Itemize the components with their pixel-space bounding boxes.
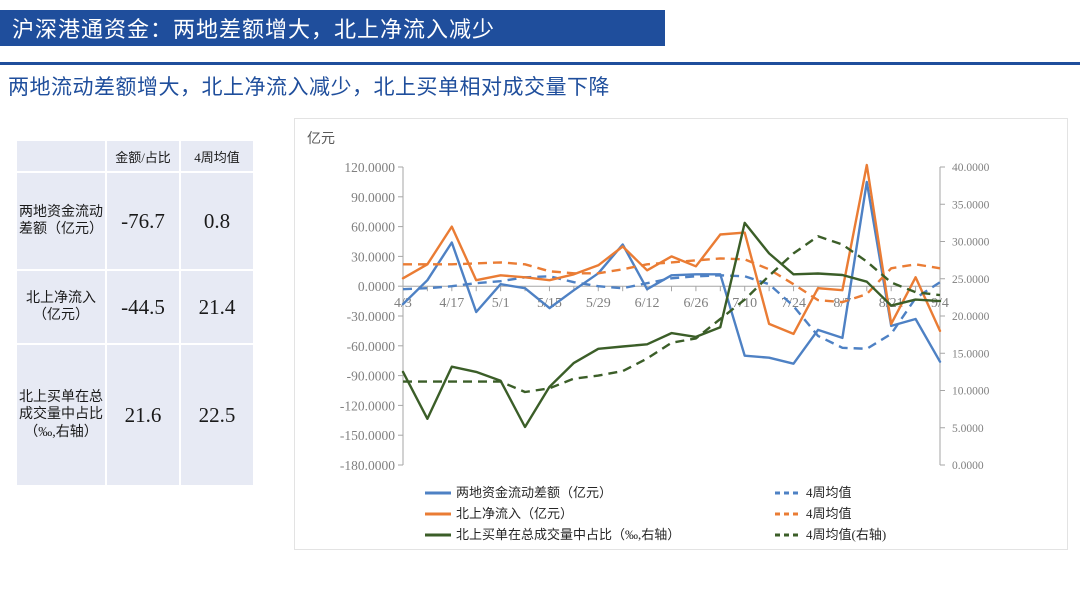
x-tick-label: 6/12 xyxy=(635,296,660,311)
title-divider xyxy=(0,62,1080,65)
y2-tick-label: 40.0000 xyxy=(952,162,990,174)
legend-label: 4周均值 xyxy=(806,485,852,500)
y2-tick-label: 20.0000 xyxy=(952,311,990,323)
series-group xyxy=(403,165,940,427)
y-tick-label: 30.0000 xyxy=(351,249,395,264)
y-axis-left-ticks: 120.000090.000060.000030.00000.0000-30.0… xyxy=(340,160,403,473)
row-avg-netin: 21.4 xyxy=(181,271,253,343)
chart-panel: 亿元 120.000090.000060.000030.00000.0000-3… xyxy=(294,118,1068,550)
y2-tick-label: 30.0000 xyxy=(952,237,990,249)
page-title: 沪深港通资金：两地差额增大，北上净流入减少 xyxy=(0,12,495,44)
table-header-row: 金额/占比 4周均值 xyxy=(17,141,253,171)
y-tick-label: 90.0000 xyxy=(351,190,395,205)
y-tick-label: 0.0000 xyxy=(358,279,395,294)
legend-label: 4周均值 xyxy=(806,506,852,521)
y2-tick-label: 0.0000 xyxy=(952,460,984,472)
row-amount-diff: -76.7 xyxy=(107,173,179,269)
series-line-5 xyxy=(403,236,940,392)
series-line-4 xyxy=(403,223,940,427)
y-tick-label: -180.0000 xyxy=(340,458,395,473)
y-tick-label: -60.0000 xyxy=(347,339,396,354)
table-row: 北上净流入（亿元） -44.5 21.4 xyxy=(17,271,253,343)
y-axis-unit-label: 亿元 xyxy=(307,130,335,146)
subtitle-text: 两地流动差额增大，北上净流入减少，北上买单相对成交量下降 xyxy=(8,71,610,101)
summary-table: 金额/占比 4周均值 两地资金流动差额（亿元） -76.7 0.8 北上净流入（… xyxy=(15,139,255,487)
x-tick-label: 5/1 xyxy=(492,296,510,311)
y2-tick-label: 15.0000 xyxy=(952,348,990,360)
table-header-amount: 金额/占比 xyxy=(107,141,179,171)
row-amount-netin: -44.5 xyxy=(107,271,179,343)
y2-tick-label: 25.0000 xyxy=(952,274,990,286)
x-tick-label: 5/29 xyxy=(586,296,611,311)
line-chart: 亿元 120.000090.000060.000030.00000.0000-3… xyxy=(295,119,1065,547)
row-avg-share: 22.5 xyxy=(181,345,253,485)
legend-label: 北上买单在总成交量中占比（‰,右轴） xyxy=(456,527,680,542)
row-amount-share: 21.6 xyxy=(107,345,179,485)
y2-tick-label: 10.0000 xyxy=(952,386,990,398)
row-label-share: 北上买单在总成交量中占比（‰,右轴） xyxy=(17,345,105,485)
row-avg-diff: 0.8 xyxy=(181,173,253,269)
y2-tick-label: 5.0000 xyxy=(952,423,984,435)
table-header-blank xyxy=(17,141,105,171)
slide-subtitle: 两地流动差额增大，北上净流入减少，北上买单相对成交量下降 xyxy=(8,70,1008,102)
series-line-0 xyxy=(403,182,940,364)
y2-tick-label: 35.0000 xyxy=(952,199,990,211)
y-tick-label: -120.0000 xyxy=(340,398,395,413)
row-label-netin: 北上净流入（亿元） xyxy=(17,271,105,343)
legend-label: 北上净流入（亿元） xyxy=(456,506,573,521)
x-tick-label: 4/17 xyxy=(439,296,464,311)
legend-label: 两地资金流动差额（亿元） xyxy=(456,485,612,500)
table-row: 北上买单在总成交量中占比（‰,右轴） 21.6 22.5 xyxy=(17,345,253,485)
series-line-2 xyxy=(403,165,940,334)
y-tick-label: -90.0000 xyxy=(347,369,396,384)
table-header-avg: 4周均值 xyxy=(181,141,253,171)
slide-title-band: 沪深港通资金：两地差额增大，北上净流入减少 xyxy=(0,10,665,46)
x-axis-ticks: 4/34/175/15/155/296/126/267/107/248/78/2… xyxy=(394,286,949,311)
axis-lines xyxy=(403,167,940,465)
y-tick-label: 60.0000 xyxy=(351,220,395,235)
legend-label: 4周均值(右轴) xyxy=(806,527,886,542)
x-tick-label: 6/26 xyxy=(683,296,708,311)
y-tick-label: -30.0000 xyxy=(347,309,396,324)
y-tick-label: 120.0000 xyxy=(344,160,395,175)
chart-legend: 两地资金流动差额（亿元）4周均值北上净流入（亿元）4周均值北上买单在总成交量中占… xyxy=(425,485,886,542)
y-axis-right-ticks: 40.000035.000030.000025.000020.000015.00… xyxy=(940,162,990,472)
x-tick-label: 9/4 xyxy=(931,296,949,311)
y-tick-label: -150.0000 xyxy=(340,428,395,443)
table-row: 两地资金流动差额（亿元） -76.7 0.8 xyxy=(17,173,253,269)
row-label-diff: 两地资金流动差额（亿元） xyxy=(17,173,105,269)
